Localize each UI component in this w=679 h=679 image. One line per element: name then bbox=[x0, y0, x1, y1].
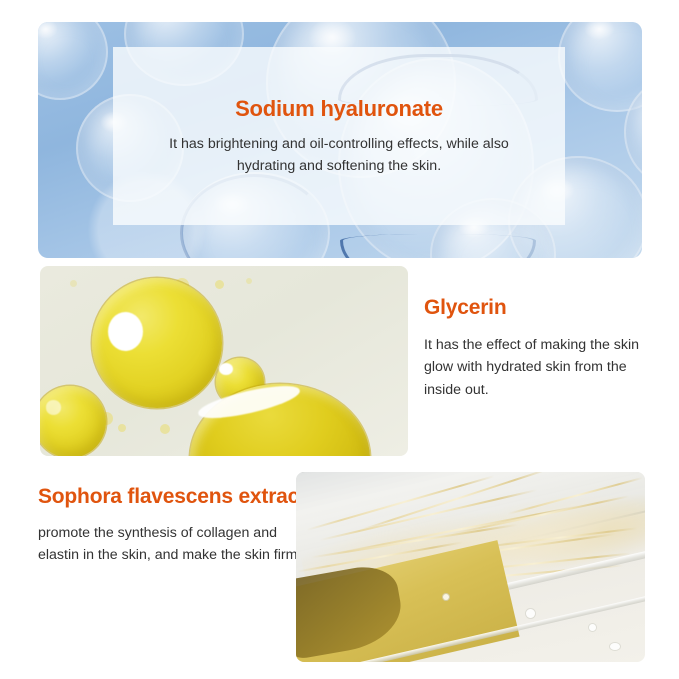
oil-speck-decoration bbox=[246, 278, 252, 284]
bubble-rim-decoration bbox=[38, 22, 106, 98]
water-droplet-decoration bbox=[526, 609, 535, 618]
oil-speck-decoration bbox=[160, 424, 170, 434]
oil-speck-decoration bbox=[70, 280, 77, 287]
sophora-root-extract-photo bbox=[296, 472, 645, 662]
sophora-text-block: Sophora flavescens extract promote the s… bbox=[38, 484, 306, 567]
water-droplet-decoration bbox=[610, 643, 620, 650]
section-sodium-hyaluronate: Sodium hyaluronate It has brightening an… bbox=[38, 22, 642, 258]
sophora-description: promote the synthesis of collagen and el… bbox=[38, 522, 306, 567]
glycerin-title: Glycerin bbox=[424, 296, 649, 320]
droplet-highlight bbox=[108, 312, 143, 351]
oil-speck-decoration bbox=[118, 424, 126, 432]
glycerin-description: It has the effect of making the skin glo… bbox=[424, 334, 649, 401]
droplet-highlight bbox=[46, 400, 62, 414]
water-droplet-decoration bbox=[443, 594, 449, 600]
ingredient-infographic: Sodium hyaluronate It has brightening an… bbox=[0, 0, 679, 679]
oil-speck-decoration bbox=[215, 280, 224, 289]
section-sophora-flavescens-extract: Sophora flavescens extract promote the s… bbox=[38, 472, 645, 662]
bubble-decoration bbox=[558, 22, 642, 112]
droplet-highlight bbox=[219, 363, 233, 375]
oil-droplet-decoration bbox=[190, 384, 370, 456]
oil-droplet-decoration bbox=[40, 386, 106, 456]
water-droplet-decoration bbox=[589, 624, 596, 631]
section-glycerin: Glycerin It has the effect of making the… bbox=[40, 266, 645, 456]
yellow-oil-droplets-photo bbox=[40, 266, 408, 456]
sophora-title: Sophora flavescens extract bbox=[38, 484, 306, 511]
bubble-rim-decoration bbox=[340, 234, 536, 258]
sodium-hyaluronate-description: It has brightening and oil-controlling e… bbox=[139, 133, 539, 177]
sodium-hyaluronate-text-overlay: Sodium hyaluronate It has brightening an… bbox=[113, 47, 565, 225]
oil-droplet-decoration bbox=[92, 278, 222, 408]
glycerin-text-block: Glycerin It has the effect of making the… bbox=[424, 296, 649, 401]
sodium-hyaluronate-title: Sodium hyaluronate bbox=[235, 96, 443, 122]
